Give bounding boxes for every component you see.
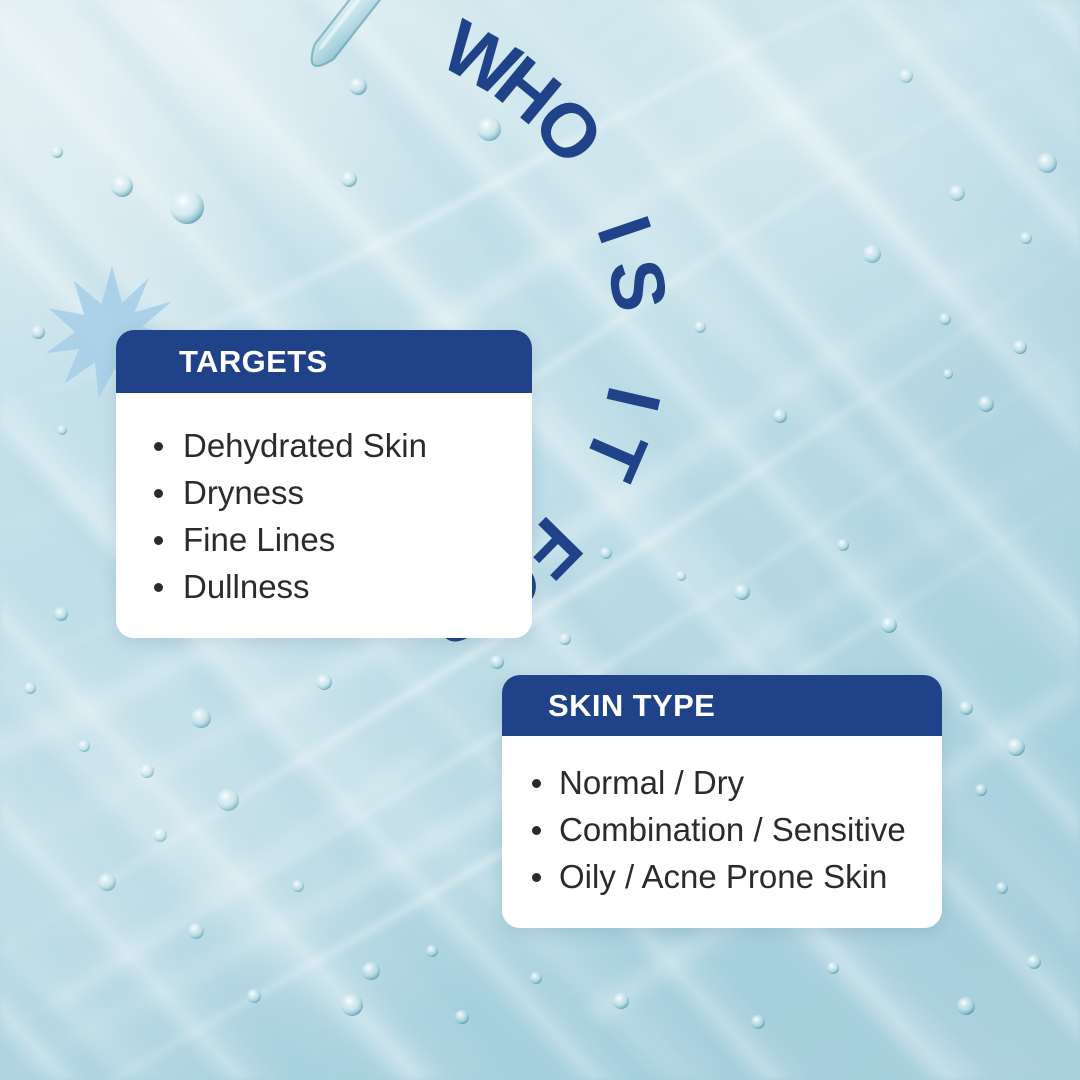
skin-type-card-title: SKIN TYPE: [548, 688, 715, 724]
list-item: Combination / Sensitive: [532, 807, 942, 853]
skin-type-card-body: Normal / Dry Combination / Sensitive Oil…: [502, 736, 942, 928]
list-item: Dehydrated Skin: [154, 423, 532, 469]
list-item: Dryness: [154, 470, 532, 516]
skin-type-card-header: SKIN TYPE: [502, 675, 942, 736]
list-item-label: Dullness: [183, 564, 310, 610]
bullet-dot-icon: [532, 826, 541, 835]
list-item-label: Dehydrated Skin: [183, 423, 427, 469]
list-item: Dullness: [154, 564, 532, 610]
targets-card-body: Dehydrated Skin Dryness Fine Lines Dulln…: [116, 393, 532, 638]
targets-bullet-list: Dehydrated Skin Dryness Fine Lines Dulln…: [154, 423, 532, 610]
bullet-dot-icon: [154, 489, 163, 498]
targets-card-header: TARGETS: [116, 330, 532, 393]
list-item: Fine Lines: [154, 517, 532, 563]
bullet-dot-icon: [154, 536, 163, 545]
list-item-label: Combination / Sensitive: [559, 807, 906, 853]
bullet-dot-icon: [532, 873, 541, 882]
list-item-label: Normal / Dry: [559, 760, 744, 806]
skin-type-card: SKIN TYPE Normal / Dry Combination / Sen…: [502, 675, 942, 928]
list-item-label: Fine Lines: [183, 517, 335, 563]
list-item: Oily / Acne Prone Skin: [532, 854, 942, 900]
targets-card-title: TARGETS: [179, 344, 328, 380]
poster-canvas: WHOISITFOR TARGETS Dehydrated Skin Dryne…: [0, 0, 1080, 1080]
bullet-dot-icon: [154, 442, 163, 451]
bullet-dot-icon: [532, 779, 541, 788]
list-item-label: Oily / Acne Prone Skin: [559, 854, 887, 900]
targets-card: TARGETS Dehydrated Skin Dryness Fine Lin…: [116, 330, 532, 638]
bullet-dot-icon: [154, 583, 163, 592]
list-item-label: Dryness: [183, 470, 304, 516]
skin-type-bullet-list: Normal / Dry Combination / Sensitive Oil…: [532, 760, 942, 900]
list-item: Normal / Dry: [532, 760, 942, 806]
